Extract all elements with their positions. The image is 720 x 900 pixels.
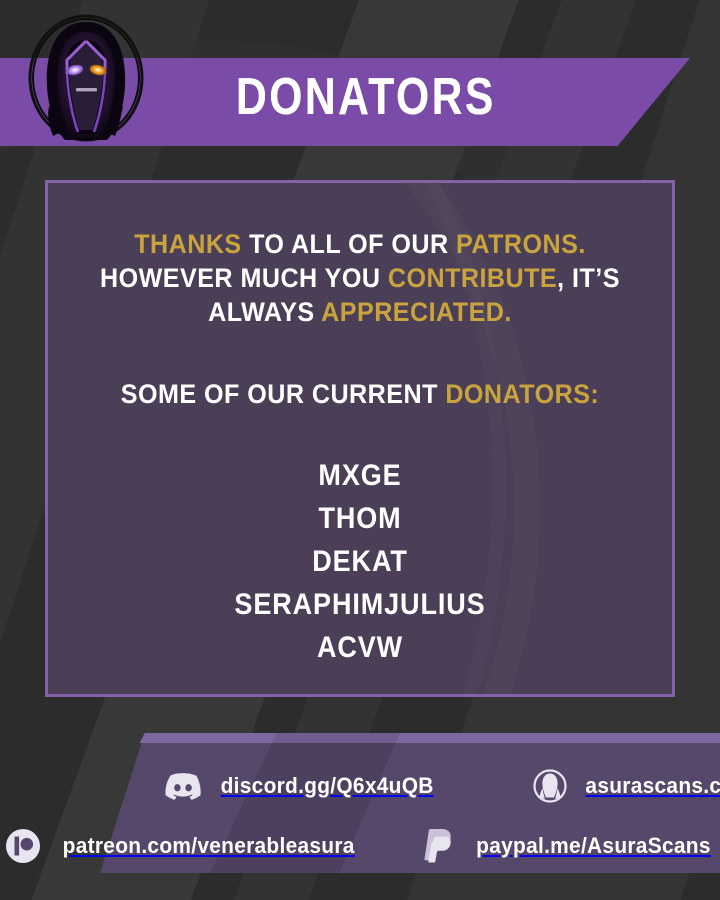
page-title: DONATORS <box>236 63 496 131</box>
footer-link-discord[interactable]: discord.gg/Q6x4uQB <box>0 772 420 800</box>
paypal-icon <box>420 827 456 865</box>
list-item: SERAPHIMJULIUS <box>79 583 641 626</box>
blurb-text-2: HOWEVER MUCH YOU <box>100 263 388 293</box>
donor-list: MXGE THOM DEKAT SERAPHIMJULIUS ACVW <box>48 454 672 669</box>
blurb-text-3: , IT’S <box>557 263 620 293</box>
footer-link-label: asurascans.com <box>585 773 720 799</box>
donors-label-highlight: DONATORS: <box>445 379 599 409</box>
patreon-icon <box>5 828 41 864</box>
donors-section-label: SOME OF OUR CURRENT DONATORS: <box>70 379 650 410</box>
list-item: THOM <box>79 497 641 540</box>
blurb-line-1: THANKS TO ALL OF OUR PATRONS. <box>70 227 650 261</box>
blurb-word-patrons: PATRONS. <box>456 229 586 259</box>
blurb-text-1: TO ALL OF OUR <box>242 229 456 259</box>
list-item: MXGE <box>79 454 641 497</box>
asurascans-icon <box>533 769 567 803</box>
footer-links: discord.gg/Q6x4uQB asurascans.com patreo… <box>0 733 720 873</box>
donors-label-prefix: SOME OF OUR CURRENT <box>121 379 446 409</box>
footer-link-paypal[interactable]: paypal.me/AsuraScans <box>420 827 720 865</box>
footer-link-label: discord.gg/Q6x4uQB <box>221 773 434 799</box>
footer-link-website[interactable]: asurascans.com <box>420 769 720 803</box>
hooded-figure-logo-icon <box>27 14 145 142</box>
list-item: DEKAT <box>79 540 641 583</box>
thanks-blurb: THANKS TO ALL OF OUR PATRONS. HOWEVER MU… <box>70 227 650 329</box>
blurb-line-2: HOWEVER MUCH YOU CONTRIBUTE, IT’S <box>70 261 650 295</box>
footer-link-label: paypal.me/AsuraScans <box>476 833 711 859</box>
footer-link-label: patreon.com/venerableasura <box>63 833 355 859</box>
blurb-line-3: ALWAYS APPRECIATED. <box>70 295 650 329</box>
blurb-text-4: ALWAYS <box>208 297 321 327</box>
donators-panel: THANKS TO ALL OF OUR PATRONS. HOWEVER MU… <box>45 180 675 697</box>
discord-icon <box>165 772 201 800</box>
blurb-word-appreciated: APPRECIATED. <box>321 297 512 327</box>
asura-logo <box>27 14 145 142</box>
blurb-word-contribute: CONTRIBUTE <box>388 263 557 293</box>
footer-link-patreon[interactable]: patreon.com/venerableasura <box>0 828 420 864</box>
blurb-word-thanks: THANKS <box>134 229 241 259</box>
list-item: ACVW <box>79 626 641 669</box>
